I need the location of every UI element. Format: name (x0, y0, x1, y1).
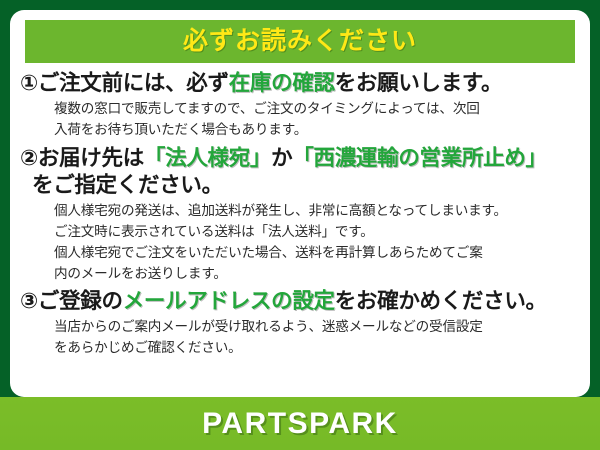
notice-item-list: ①ご注文前には、必ず在庫の確認をお願いします。複数の窓口で販売してますので、ご注… (10, 70, 590, 357)
item-marker: ① (20, 71, 38, 95)
brand-footer: PARTSPARK (0, 397, 600, 450)
heading-text: をお確かめください。 (335, 289, 547, 313)
notice-item: ②お届け先は「法人様宛」か「西濃運輸の営業所止め」をご指定ください。個人様宅宛の… (10, 145, 590, 283)
item-marker: ② (20, 146, 38, 170)
item-subtext-line: 内のメールをお送りします。 (20, 264, 582, 283)
item-subtext-line: ご注文時に表示されている送料は「法人送料」です。 (20, 222, 582, 241)
title-banner: 必ずお読みください (25, 20, 575, 63)
heading-text: お届け先は (38, 146, 144, 170)
item-subtext-line: 複数の窓口で販売してますので、ご注文のタイミングによっては、次回 (20, 99, 582, 118)
item-subtext-line: 個人様宅宛の発送は、追加送料が発生し、非常に高額となってしまいます。 (20, 201, 582, 220)
heading-highlight-text: 「法人様宛」 (144, 146, 271, 170)
heading-highlight-text: 「西濃運輸の営業所止め」 (292, 146, 546, 170)
heading-text: をご指定ください。 (32, 173, 223, 197)
brand-name: PARTSPARK (202, 409, 398, 439)
heading-text: ご注文前には、必ず (38, 71, 229, 95)
notice-graphic: 必ずお読みください ①ご注文前には、必ず在庫の確認をお願いします。複数の窓口で販… (0, 0, 600, 450)
heading-text: をお願いします。 (335, 71, 502, 95)
notice-item: ③ご登録のメールアドレスの設定をお確かめください。当店からのご案内メールが受け取… (10, 288, 590, 357)
item-marker: ③ (20, 289, 38, 313)
item-heading-line: ①ご注文前には、必ず在庫の確認をお願いします。 (20, 70, 582, 97)
item-subtext-line: 入荷をお待ち頂いただく場合もあります。 (20, 120, 582, 139)
item-subtext-line: 当店からのご案内メールが受け取れるよう、迷惑メールなどの受信設定 (20, 317, 582, 336)
notice-item: ①ご注文前には、必ず在庫の確認をお願いします。複数の窓口で販売してますので、ご注… (10, 70, 590, 139)
item-heading-line: ③ご登録のメールアドレスの設定をお確かめください。 (20, 288, 582, 315)
heading-highlight-text: 在庫の確認 (229, 71, 335, 95)
item-subtext-line: をあらかじめご確認ください。 (20, 338, 582, 357)
item-heading-line: ②お届け先は「法人様宛」か「西濃運輸の営業所止め」 (20, 145, 582, 172)
item-subtext-line: 個人様宅宛でご注文をいただいた場合、送料を再計算しあらためてご案 (20, 243, 582, 262)
heading-text: か (271, 146, 292, 170)
item-heading-line: をご指定ください。 (20, 172, 582, 199)
heading-text: ご登録の (38, 289, 123, 313)
heading-highlight-text: メールアドレスの設定 (123, 289, 335, 313)
notice-title: 必ずお読みください (183, 29, 417, 54)
notice-panel: 必ずお読みください ①ご注文前には、必ず在庫の確認をお願いします。複数の窓口で販… (10, 10, 590, 397)
